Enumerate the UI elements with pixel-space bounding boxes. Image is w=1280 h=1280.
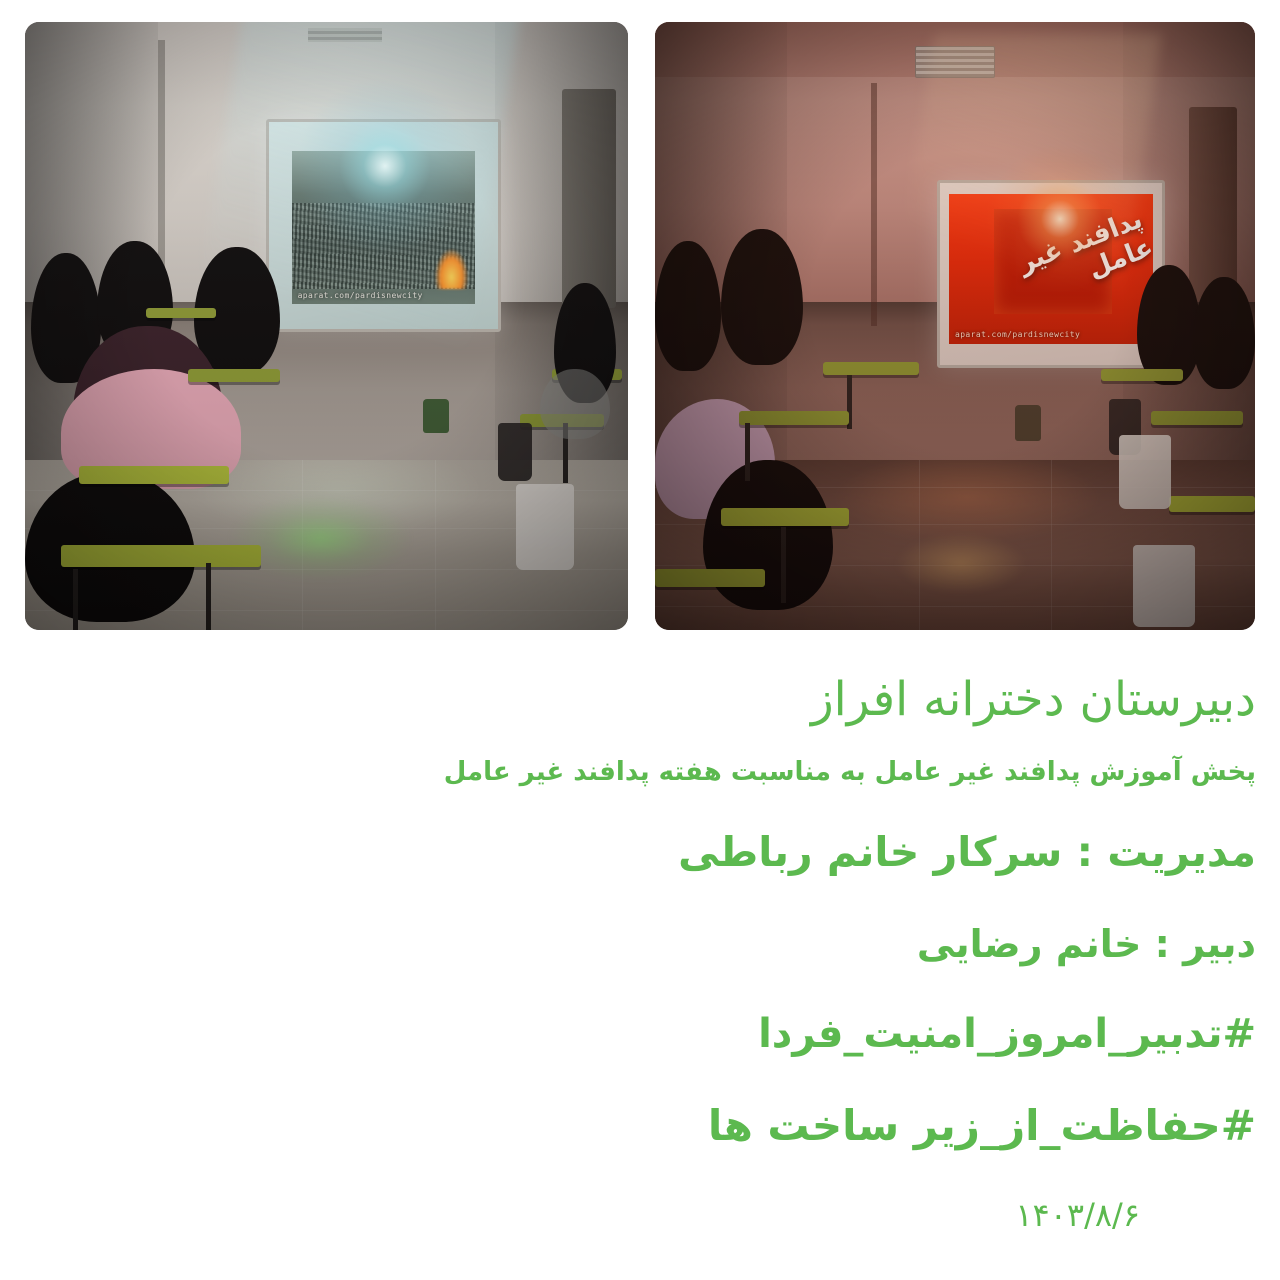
desk — [1101, 369, 1183, 381]
door — [1189, 107, 1237, 302]
desk — [721, 508, 849, 526]
desk — [1169, 496, 1255, 512]
classroom-scene-left: aparat.com/pardisnewcity — [25, 22, 628, 630]
desk-leg — [745, 423, 750, 481]
projection-screen: پدافند غیر عامل aparat.com/pardisnewcity — [937, 180, 1165, 368]
management-line: مدیریت : سرکار خانم رباطی — [678, 830, 1256, 876]
caption-block: دبیرستان دخترانه افراز پخش آموزش پدافند … — [0, 640, 1280, 1280]
teacher-line: دبیر : خانم رضایی — [917, 923, 1256, 966]
desk — [79, 466, 229, 484]
projected-slide: aparat.com/pardisnewcity — [292, 151, 475, 304]
desk — [739, 411, 849, 425]
desk-leg — [73, 569, 78, 630]
classroom-scene-right: پدافند غیر عامل aparat.com/pardisnewcity — [655, 22, 1255, 630]
teacher-desk — [823, 362, 919, 375]
hashtag-secondary: #حفاظت_از_زیر ساخت ها — [708, 1102, 1256, 1149]
tote-bag — [516, 484, 574, 570]
classroom-photo-left: aparat.com/pardisnewcity — [25, 22, 628, 630]
poster-root: { "poster": { "brand_green": "#5cb94f", … — [0, 0, 1280, 1280]
desk — [188, 369, 280, 382]
student — [1193, 277, 1255, 389]
door — [562, 89, 616, 308]
slide-watermark: aparat.com/pardisnewcity — [955, 330, 1080, 339]
projection-screen: aparat.com/pardisnewcity — [266, 119, 501, 332]
classroom-photo-right: پدافند غیر عامل aparat.com/pardisnewcity — [655, 22, 1255, 630]
desk — [655, 569, 765, 587]
school-name-title: دبیرستان دخترانه افراز — [811, 674, 1256, 727]
desk — [146, 308, 216, 318]
student — [1137, 265, 1201, 385]
desk — [1151, 411, 1243, 425]
projected-slide: پدافند غیر عامل aparat.com/pardisnewcity — [949, 194, 1153, 344]
wall-pillar — [871, 83, 877, 326]
event-subtitle: پخش آموزش پدافند غیر عامل به مناسبت هفته… — [444, 758, 1256, 787]
slide-flame-imagery — [435, 249, 468, 289]
desk-leg — [206, 563, 211, 630]
desk — [61, 545, 261, 567]
slide-headline: پدافند غیر عامل — [949, 194, 1153, 344]
floor-light-reflection — [230, 496, 411, 581]
waste-bin — [1015, 405, 1041, 441]
waste-bin — [423, 399, 449, 433]
ceiling-vent — [308, 28, 382, 42]
backpack — [498, 423, 532, 481]
ceiling-vent — [915, 46, 995, 78]
tote-bag — [1133, 545, 1195, 627]
floor-light-reflection — [895, 533, 1027, 594]
tote-bag — [1119, 435, 1171, 509]
student — [540, 369, 610, 439]
slide-watermark: aparat.com/pardisnewcity — [298, 291, 423, 300]
photo-collage: aparat.com/pardisnewcity — [0, 0, 1280, 640]
date-stamp: ۱۴۰۳/۸/۶ — [1015, 1198, 1140, 1234]
desk-leg — [781, 527, 786, 603]
hashtag-primary: #تدبیر_امروز_امنیت_فردا — [758, 1012, 1256, 1057]
